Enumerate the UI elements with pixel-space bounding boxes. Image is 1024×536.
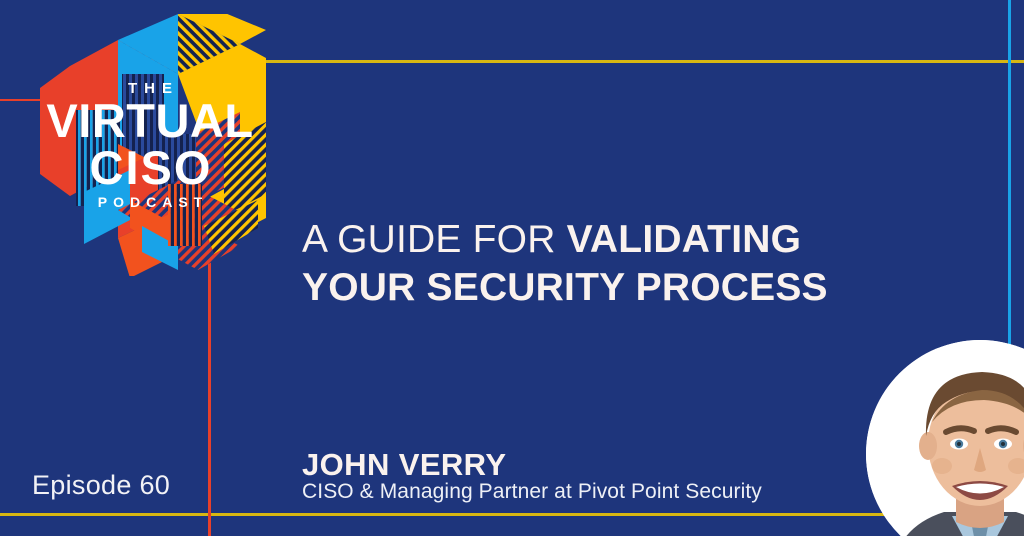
podcast-logo: THE VIRTUAL CISO PODCAST (18, 14, 282, 276)
speaker-headshot (866, 340, 1024, 536)
episode-label: Episode 60 (32, 470, 170, 501)
speaker-name: JOHN VERRY (302, 447, 506, 483)
logo-hexagon-graphic (18, 14, 282, 276)
horizontal-rule-yellow-top (232, 60, 1024, 63)
vertical-rule-red (208, 232, 211, 536)
episode-title: A GUIDE FOR VALIDATING YOUR SECURITY PRO… (302, 216, 912, 311)
horizontal-rule-yellow-bottom (0, 513, 1024, 516)
podcast-cover-card: THE VIRTUAL CISO PODCAST Episode 60 A GU… (0, 0, 1024, 536)
vertical-rule-blue-right (1008, 0, 1011, 360)
episode-title-light: A GUIDE FOR (302, 218, 567, 261)
speaker-role: CISO & Managing Partner at Pivot Point S… (302, 480, 762, 504)
headshot-portrait-graphic (866, 340, 1024, 536)
